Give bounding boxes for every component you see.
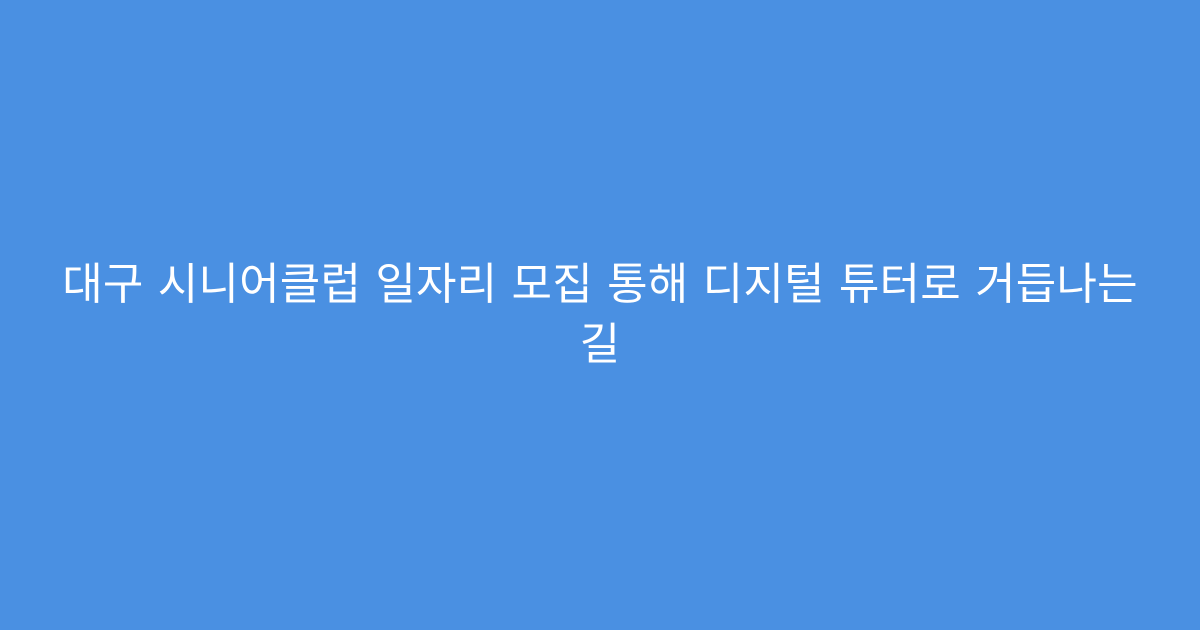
page-title: 대구 시니어클럽 일자리 모집 통해 디지털 튜터로 거듭나는 길 <box>50 255 1150 375</box>
title-container: 대구 시니어클럽 일자리 모집 통해 디지털 튜터로 거듭나는 길 <box>50 255 1150 375</box>
og-image-card: 대구 시니어클럽 일자리 모집 통해 디지털 튜터로 거듭나는 길 <box>0 0 1200 630</box>
